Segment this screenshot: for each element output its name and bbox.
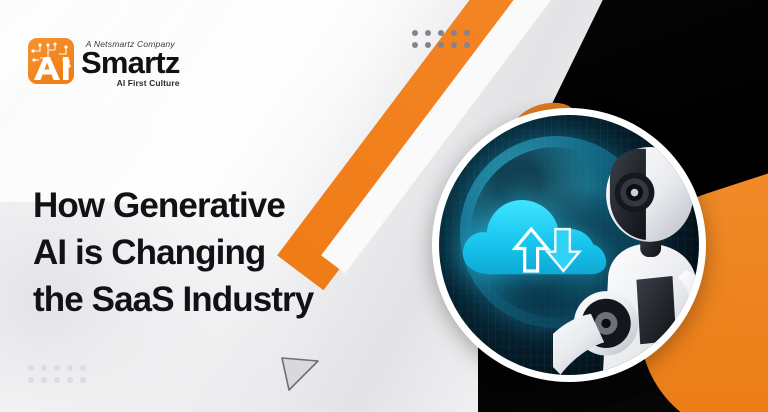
humanoid-robot <box>553 136 699 375</box>
ai-smartz-logo[interactable]: A Netsmartz Company Smartz AI First Cult… <box>28 38 180 88</box>
ai-circuit-mark-icon <box>28 38 74 84</box>
photo-inner <box>439 115 699 375</box>
robot-cloud-computing-photo <box>432 108 706 382</box>
headline-line-2: AI is Changing <box>33 230 433 277</box>
headline-line-3: the SaaS Industry <box>33 277 433 324</box>
page-title: How Generative AI is Changing the SaaS I… <box>33 183 433 323</box>
dot-grid-top <box>412 30 470 48</box>
blog-banner: A Netsmartz Company Smartz AI First Cult… <box>0 0 768 412</box>
dot-grid-bottom <box>28 365 86 383</box>
triangle-outline-icon <box>277 352 323 398</box>
logo-brand-name: Smartz <box>81 47 180 79</box>
headline-line-1: How Generative <box>33 183 433 230</box>
logo-tagline-bottom: AI First Culture <box>117 78 180 88</box>
logo-text-block: A Netsmartz Company Smartz AI First Cult… <box>81 38 180 88</box>
